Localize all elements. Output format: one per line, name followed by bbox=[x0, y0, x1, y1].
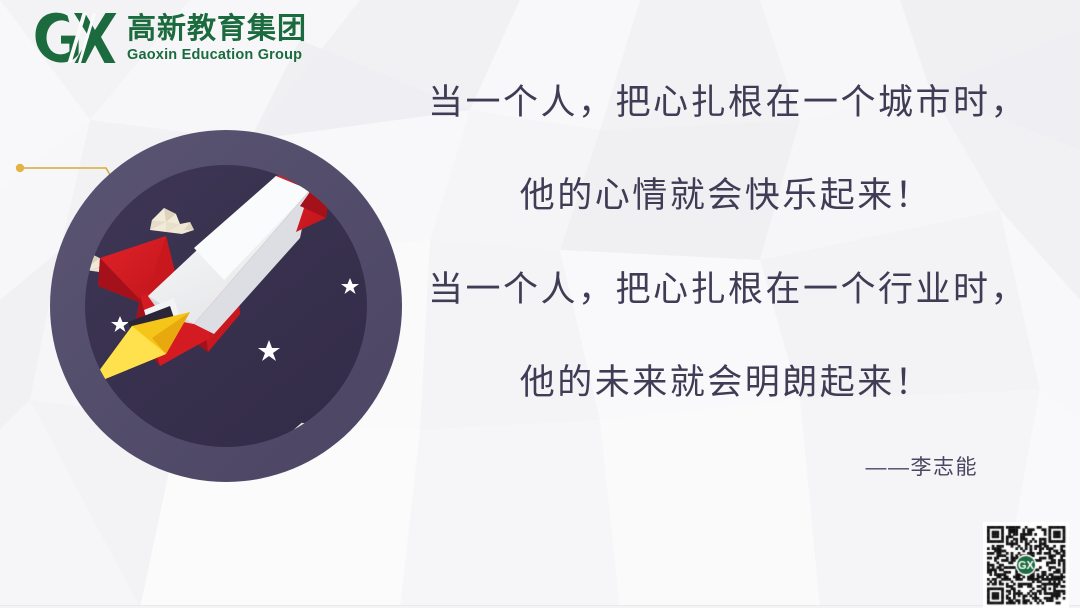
logo-name-en: Gaoxin Education Group bbox=[127, 46, 307, 64]
quote-line-3: 当一个人，把心扎根在一个行业时， bbox=[428, 269, 1040, 310]
slide-canvas: 高新教育集团 Gaoxin Education Group bbox=[0, 0, 1080, 608]
quote-attribution: ——李志能 bbox=[412, 451, 1040, 481]
rocket-illustration bbox=[48, 128, 404, 484]
logo-wordmark: 高新教育集团 Gaoxin Education Group bbox=[127, 14, 307, 64]
gx-monogram-icon bbox=[33, 10, 121, 68]
qr-code-canvas bbox=[983, 522, 1069, 608]
qr-code[interactable] bbox=[983, 522, 1069, 608]
quote-block: 当一个人，把心扎根在一个城市时， 他的心情就会快乐起来！ 当一个人，把心扎根在一… bbox=[412, 82, 1040, 481]
logo-name-cn: 高新教育集团 bbox=[127, 14, 307, 44]
quote-line-4: 他的未来就会明朗起来！ bbox=[412, 362, 1040, 403]
quote-line-2: 他的心情就会快乐起来！ bbox=[412, 175, 1040, 216]
brand-logo: 高新教育集团 Gaoxin Education Group bbox=[33, 9, 333, 69]
quote-line-1: 当一个人，把心扎根在一个城市时， bbox=[428, 82, 1040, 123]
